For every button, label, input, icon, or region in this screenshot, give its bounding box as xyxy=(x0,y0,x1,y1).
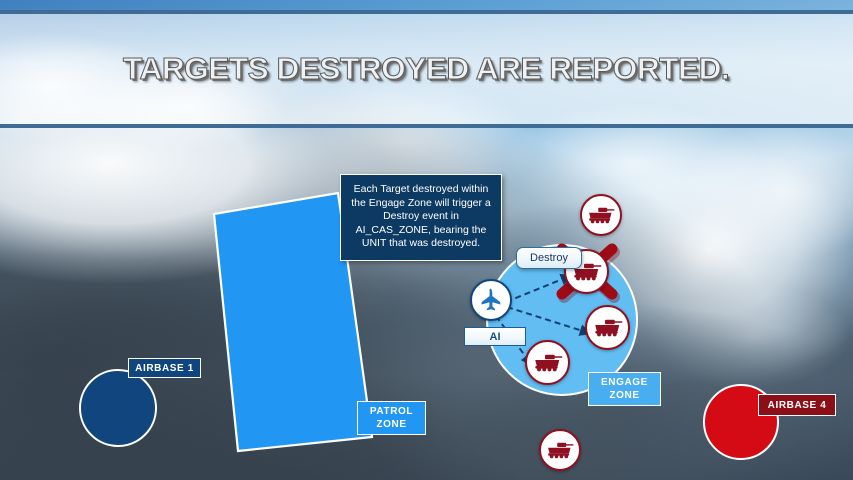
ai-unit-label-text: AI xyxy=(490,331,501,343)
airbase-1-circle[interactable] xyxy=(80,370,156,446)
ai-aircraft-icon[interactable] xyxy=(470,279,512,321)
destroy-event-callout[interactable]: Destroy xyxy=(516,247,582,269)
patrol-zone-label[interactable]: PATROL ZONE xyxy=(357,401,426,435)
destroy-callout-label: Destroy xyxy=(530,252,568,264)
target-engage-south-icon[interactable] xyxy=(525,340,570,385)
airbase-1-label[interactable]: AIRBASE 1 xyxy=(128,358,201,378)
patrol-zone-label-line2: ZONE xyxy=(376,418,406,431)
slide-canvas: TARGETS DESTROYED ARE REPORTED. xyxy=(0,0,853,480)
engage-zone-label[interactable]: ENGAGE ZONE xyxy=(588,372,661,406)
tank-icon xyxy=(587,207,615,224)
tank-icon xyxy=(593,319,623,337)
tank-icon xyxy=(546,442,574,459)
tank-icon xyxy=(533,354,563,372)
engage-zone-label-line2: ZONE xyxy=(609,389,639,402)
airbase-4-label[interactable]: AIRBASE 4 xyxy=(758,394,836,416)
target-engage-east-icon[interactable] xyxy=(585,305,630,350)
airbase-4-label-text: AIRBASE 4 xyxy=(768,399,827,412)
airbase-1-label-text: AIRBASE 1 xyxy=(135,362,194,375)
ai-unit-label[interactable]: AI xyxy=(464,327,526,346)
target-south-outside-icon[interactable] xyxy=(539,429,581,471)
fighter-jet-icon xyxy=(477,286,505,314)
explanation-callout: Each Target destroyed within the Engage … xyxy=(340,174,502,261)
target-north-outside-icon[interactable] xyxy=(580,194,622,236)
patrol-zone-label-line1: PATROL xyxy=(370,405,413,418)
engage-zone-label-line1: ENGAGE xyxy=(601,376,648,389)
explanation-text: Each Target destroyed within the Engage … xyxy=(351,183,491,249)
